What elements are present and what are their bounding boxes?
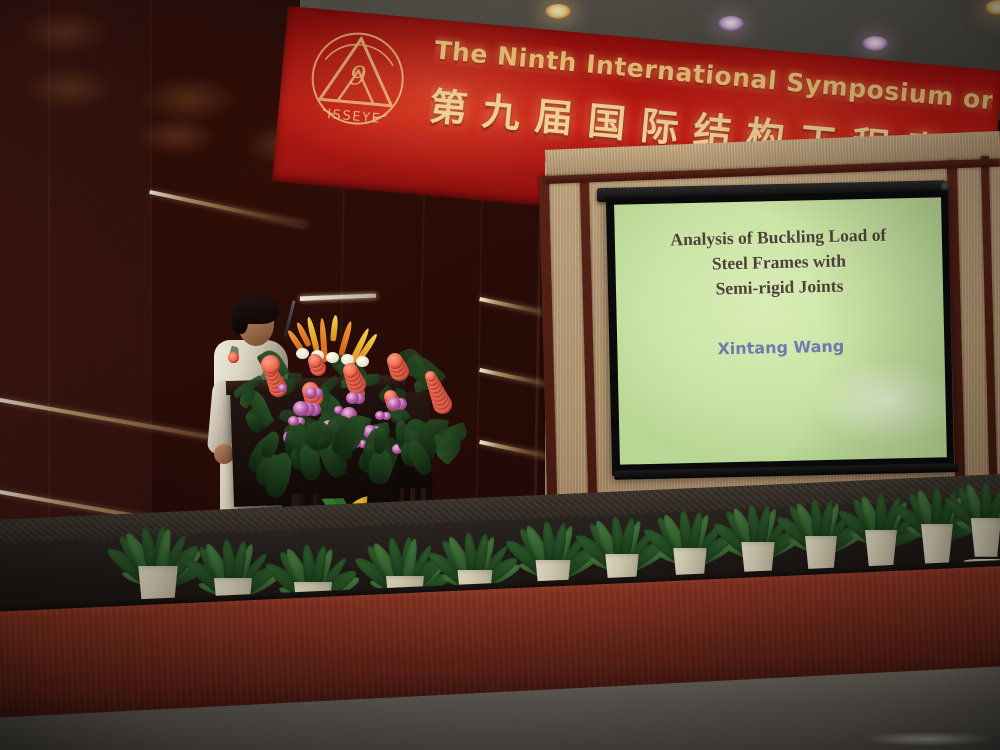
wall-light-glow xyxy=(20,10,110,54)
bouquet-lily xyxy=(356,356,369,367)
bouquet-orchid xyxy=(346,392,359,404)
ceiling-spotlight xyxy=(718,16,744,31)
floral-arrangement xyxy=(224,308,450,458)
bouquet-spike-flower xyxy=(338,321,353,356)
slide-author-name: Xintang Wang xyxy=(627,335,934,361)
potted-plant xyxy=(966,518,1000,562)
svg-text:9: 9 xyxy=(348,61,367,92)
bouquet-rose xyxy=(228,352,239,363)
wall-panel-seam xyxy=(48,0,50,560)
slide-title-line-3: Semi-rigid Joints xyxy=(715,275,843,298)
bouquet-rose xyxy=(343,363,358,378)
bouquet-orchid xyxy=(278,384,287,392)
bouquet-lily xyxy=(296,348,309,359)
bouquet-rose xyxy=(308,354,322,368)
wall-panel-seam xyxy=(150,0,152,560)
conference-photo: 9 ISSEYE The Ninth International Symposi… xyxy=(0,0,1000,750)
isseye-logo: 9 ISSEYE xyxy=(301,24,414,137)
bouquet-orchid xyxy=(375,411,385,420)
floor-reflection xyxy=(864,732,994,746)
ceiling-spotlight xyxy=(545,4,571,19)
bouquet-spike-flower xyxy=(330,315,339,341)
bouquet-rose xyxy=(425,371,436,382)
slide-title-line-1: Analysis of Buckling Load of xyxy=(670,225,886,250)
bouquet-rose xyxy=(387,353,403,369)
bouquet-orchid xyxy=(305,387,317,398)
slide-title-line-2: Steel Frames with xyxy=(712,250,847,273)
slide-surface: Analysis of Buckling Load of Steel Frame… xyxy=(614,197,947,464)
projection-screen: Analysis of Buckling Load of Steel Frame… xyxy=(601,180,960,484)
screen-black-border: Analysis of Buckling Load of Steel Frame… xyxy=(606,190,954,476)
bouquet-orchid xyxy=(334,406,343,414)
wall-light-glow xyxy=(140,76,236,122)
bouquet-rose xyxy=(261,355,280,374)
bouquet-orchid xyxy=(387,397,401,410)
isseye-logo-text: ISSEYE xyxy=(326,107,381,127)
bouquet-orchid xyxy=(293,401,309,416)
wall-light-glow xyxy=(136,116,216,156)
ceiling-spotlight xyxy=(862,36,888,51)
bouquet-lily xyxy=(326,352,339,363)
wall-light-glow xyxy=(24,66,114,110)
slide-title: Analysis of Buckling Load of Steel Frame… xyxy=(625,222,934,303)
